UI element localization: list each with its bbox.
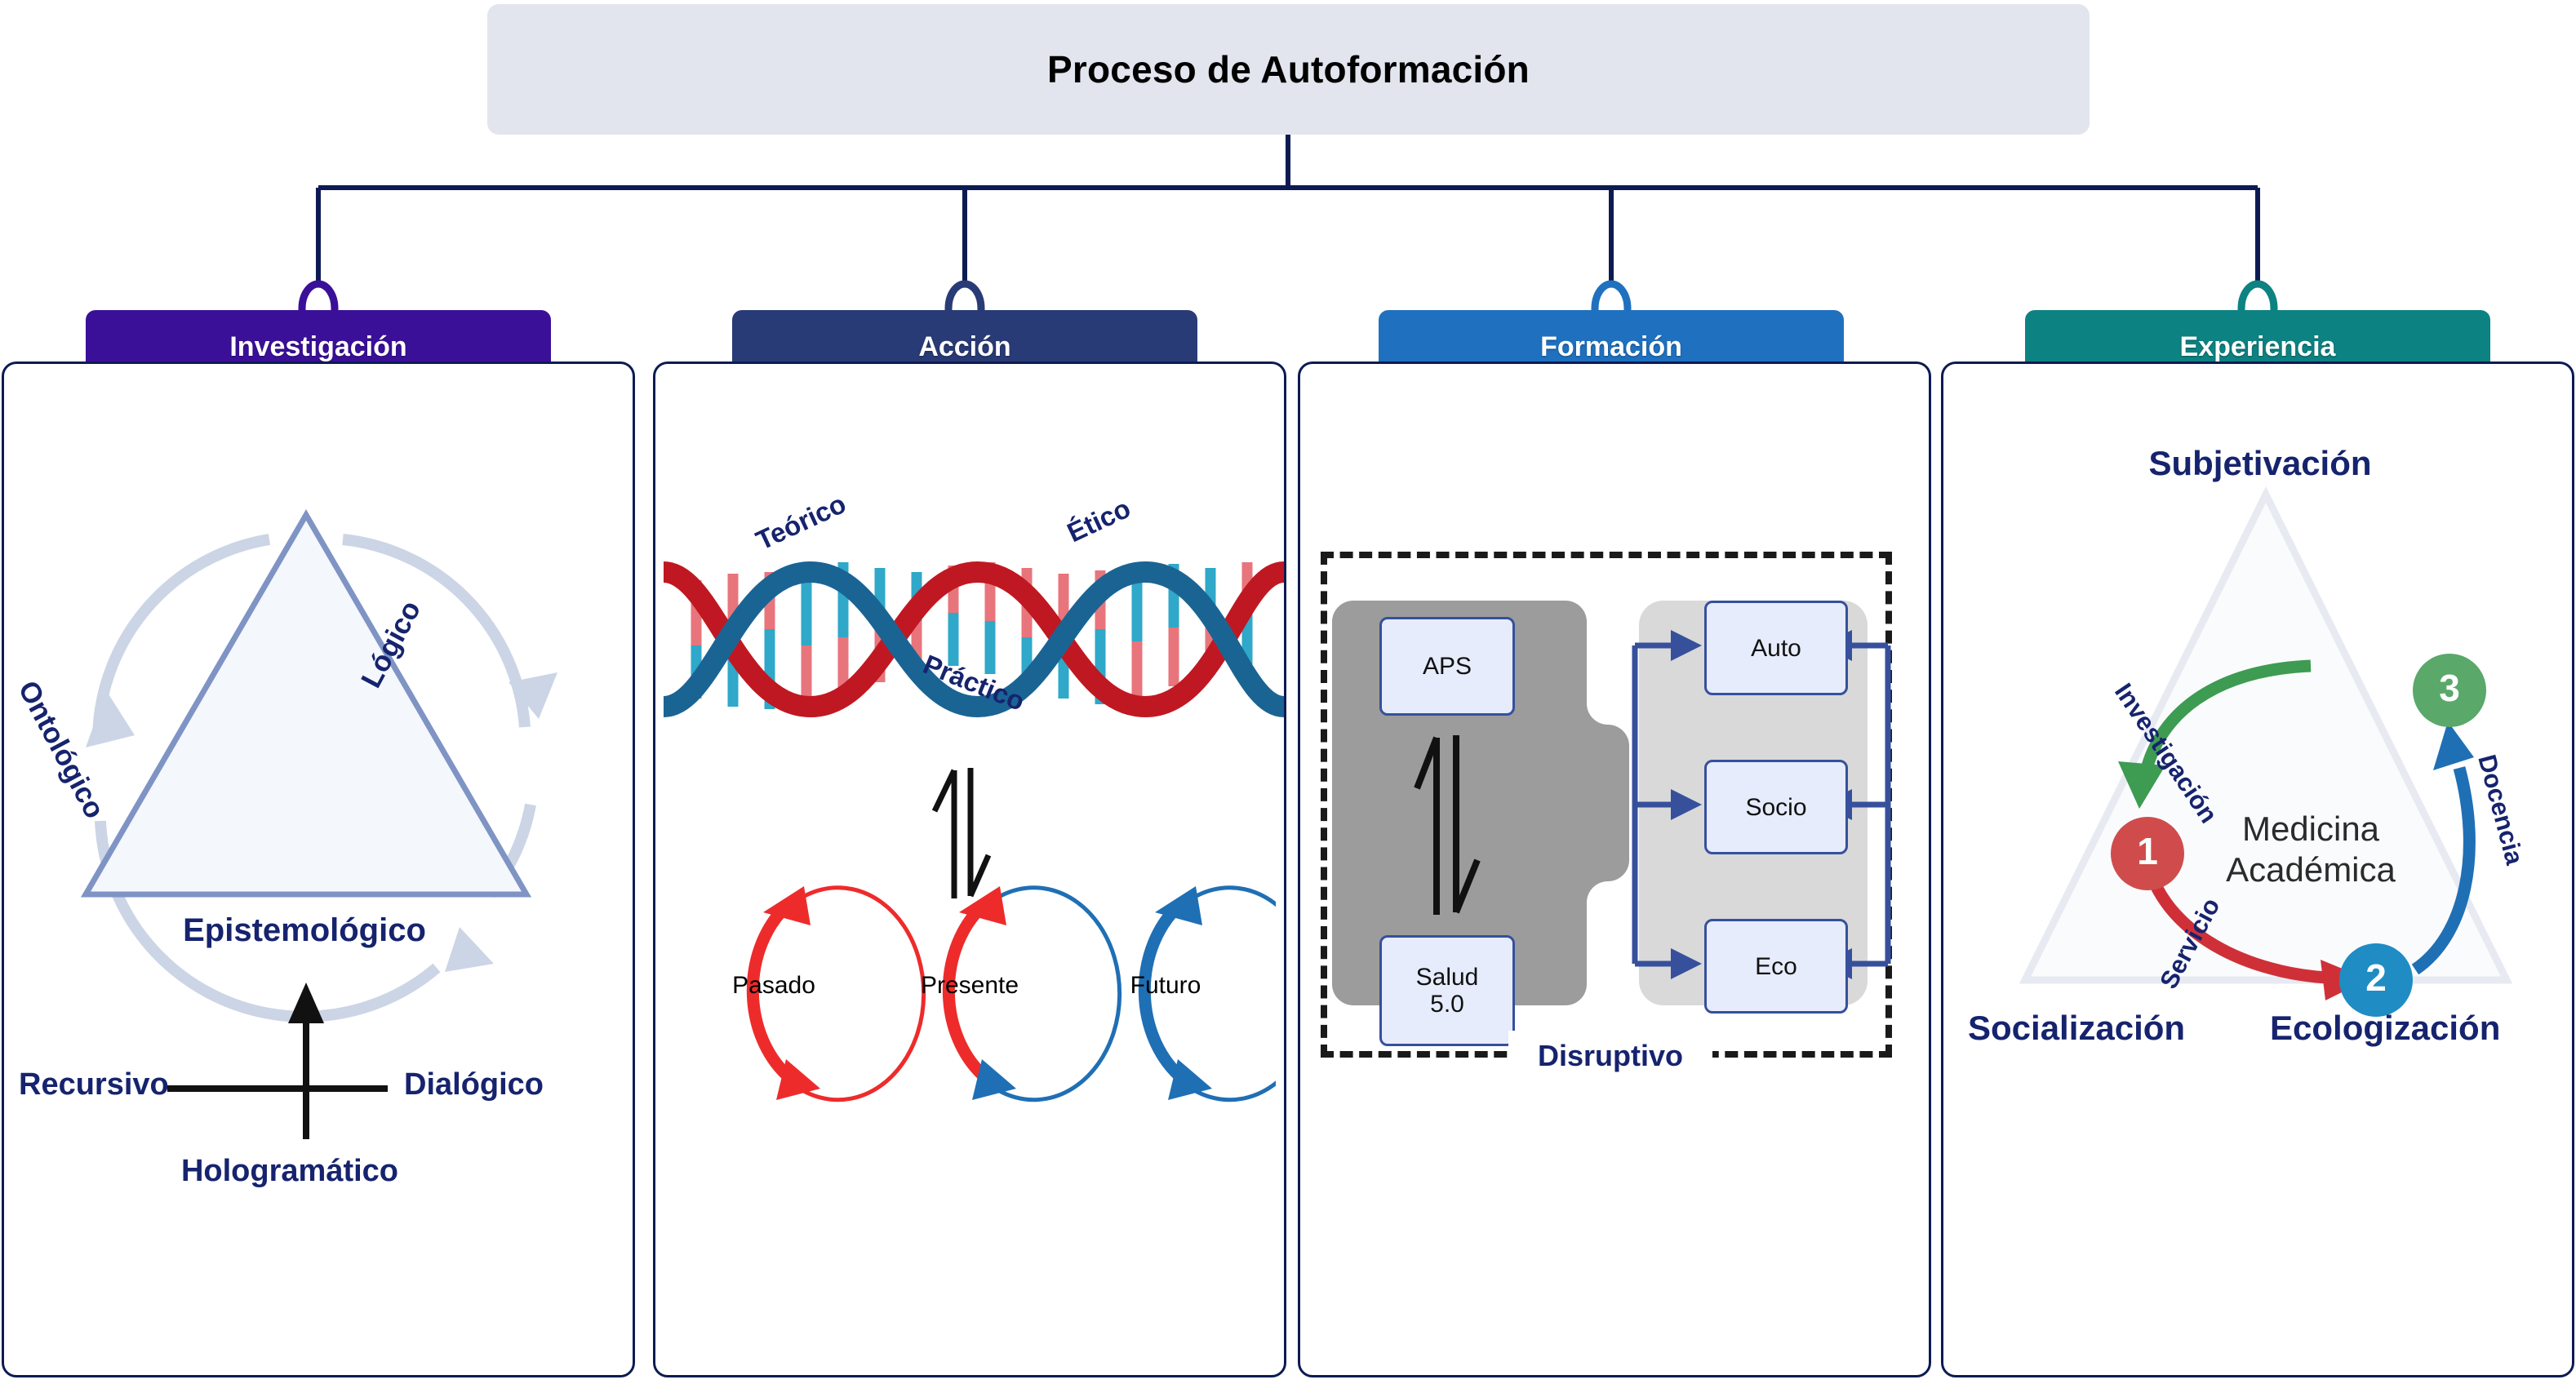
dna-helix (664, 523, 1284, 768)
epistemology-triangle (86, 515, 526, 894)
label-hologramatico: Hologramático (4, 1154, 575, 1189)
label-ecologizacion: Ecologización (2270, 1009, 2500, 1048)
node-number-3: 3 (2413, 666, 2486, 710)
box-socio[interactable]: Socio (1704, 760, 1848, 854)
page-title: Proceso de Autoformación (1047, 47, 1530, 91)
center-label: Medicina Académica (2188, 809, 2433, 889)
label-epistemologico: Epistemológico (43, 912, 566, 949)
label-socializacion: Socialización (1968, 1009, 2185, 1048)
label-pasado: Pasado (692, 972, 855, 1000)
panel-accion: Teórico Práctico Ético (653, 362, 1286, 1377)
tab-accion-label: Acción (918, 331, 1010, 363)
label-presente: Presente (888, 972, 1051, 1000)
node-number-2: 2 (2339, 956, 2413, 1000)
arrow-docencia (2433, 721, 2474, 770)
disruptivo-label: Disruptivo (1508, 1031, 1712, 1081)
box-salud[interactable]: Salud 5.0 (1379, 935, 1515, 1046)
label-recursivo: Recursivo (19, 1067, 169, 1102)
box-auto[interactable]: Auto (1704, 601, 1848, 695)
tab-experiencia-label: Experiencia (2180, 331, 2336, 363)
label-subjetivacion: Subjetivación (1943, 444, 2576, 483)
label-futuro: Futuro (1084, 972, 1247, 1000)
panel-experiencia: 1 2 3 Investigación Servicio Docencia Me… (1941, 362, 2574, 1377)
formacion-equilibrium-arrows (1402, 731, 1492, 919)
principles-cross (4, 968, 637, 1164)
tab-formacion-label: Formación (1540, 331, 1682, 363)
page-title-bar: Proceso de Autoformación (487, 4, 2090, 135)
box-aps[interactable]: APS (1379, 617, 1515, 716)
tab-investigacion-label: Investigación (229, 331, 406, 363)
investigacion-graphic (4, 364, 637, 1380)
panel-investigacion: Ontológico Lógico Epistemológico Recursi… (2, 362, 635, 1377)
ring-arrow-left (86, 690, 135, 747)
box-eco[interactable]: Eco (1704, 919, 1848, 1014)
label-dialogico: Dialógico (404, 1067, 544, 1102)
node-number-1: 1 (2111, 829, 2184, 873)
panel-formacion: APS Salud 5.0 Auto (1298, 362, 1931, 1377)
academic-triangle (2025, 495, 2507, 980)
